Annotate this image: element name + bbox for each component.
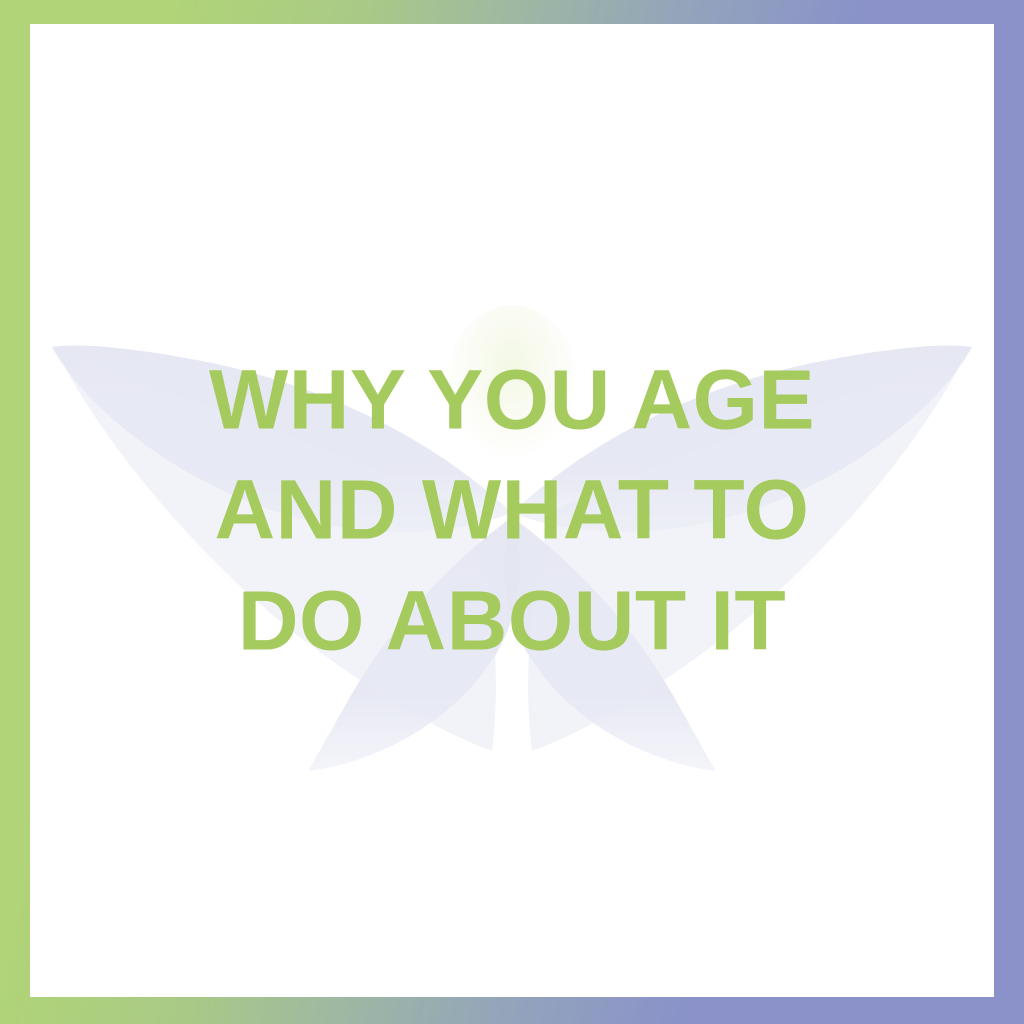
poster-canvas: WHY YOU AGE AND WHAT TO DO ABOUT IT xyxy=(0,0,1024,1024)
headline-line-2: AND WHAT TO xyxy=(70,455,954,566)
page-title: WHY YOU AGE AND WHAT TO DO ABOUT IT xyxy=(30,344,994,677)
headline-line-1: WHY YOU AGE xyxy=(70,344,954,455)
poster-inner-canvas: WHY YOU AGE AND WHAT TO DO ABOUT IT xyxy=(30,24,994,997)
headline-line-3: DO ABOUT IT xyxy=(70,566,954,677)
